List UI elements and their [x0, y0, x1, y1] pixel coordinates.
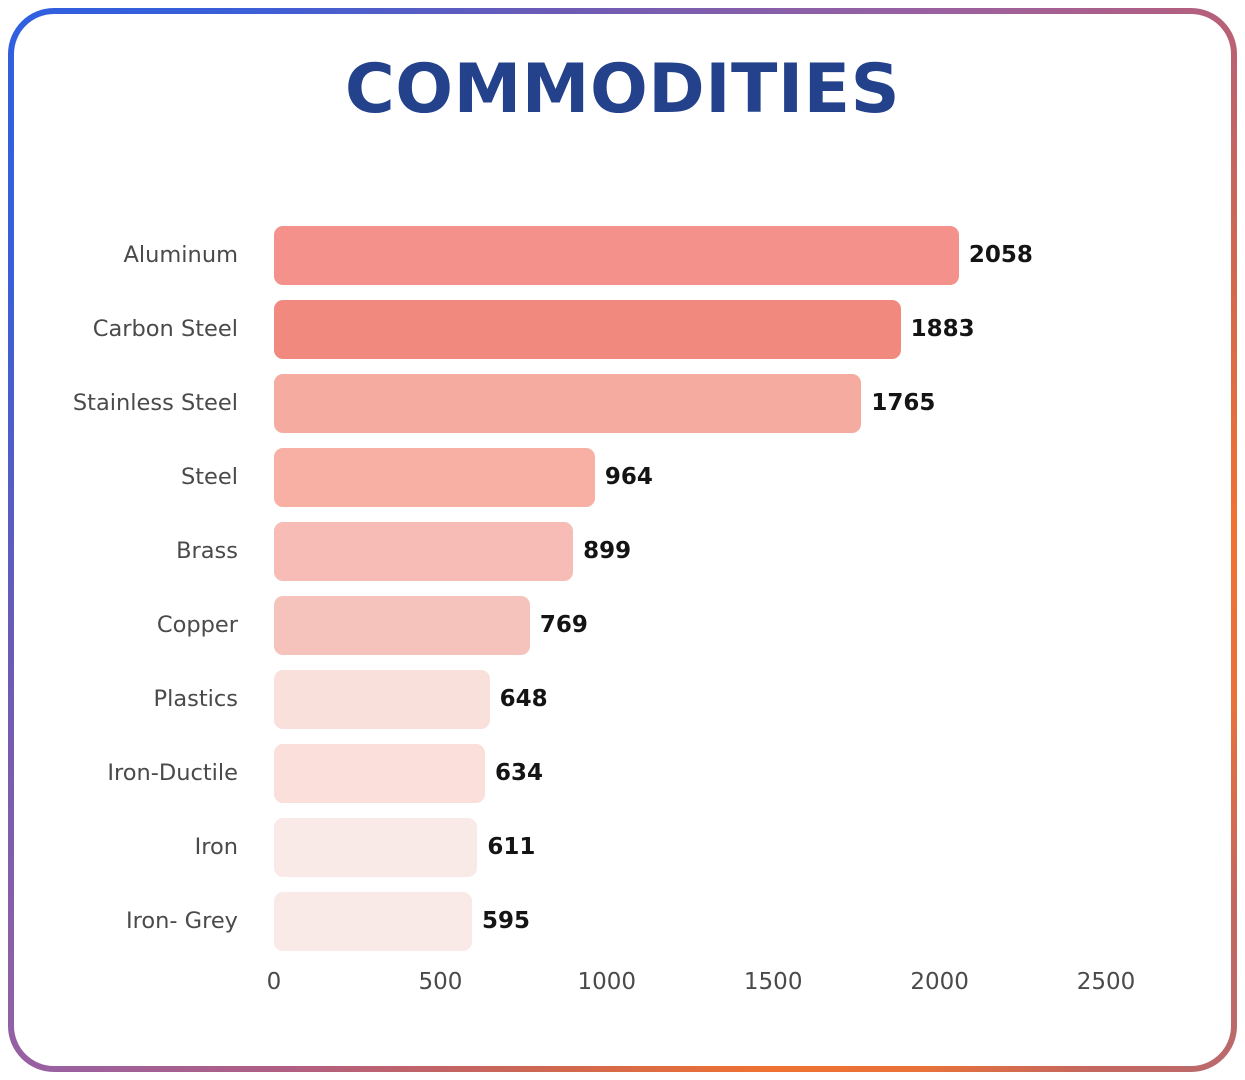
- bar-row: Iron-Ductile634: [14, 744, 1231, 803]
- bar-row: Iron- Grey595: [14, 892, 1231, 951]
- bar-value-label: 899: [583, 522, 631, 581]
- bar-row: Aluminum2058: [14, 226, 1231, 285]
- bar[interactable]: [274, 522, 573, 581]
- x-axis-tick-label: 2000: [910, 969, 969, 995]
- bar[interactable]: [274, 374, 861, 433]
- bar-row: Carbon Steel1883: [14, 300, 1231, 359]
- bar-value-label: 634: [495, 744, 543, 803]
- category-label: Steel: [181, 448, 238, 507]
- chart-card: COMMODITIES Aluminum2058Carbon Steel1883…: [14, 14, 1231, 1066]
- bar-row: Plastics648: [14, 670, 1231, 729]
- bar-value-label: 1883: [911, 300, 975, 359]
- bar-value-label: 1765: [871, 374, 935, 433]
- bar-row: Brass899: [14, 522, 1231, 581]
- gradient-border-frame: COMMODITIES Aluminum2058Carbon Steel1883…: [8, 8, 1237, 1072]
- bar-value-label: 595: [482, 892, 530, 951]
- x-axis-tick-label: 0: [267, 969, 282, 995]
- category-label: Iron- Grey: [126, 892, 238, 951]
- category-label: Iron-Ductile: [107, 744, 238, 803]
- category-label: Carbon Steel: [93, 300, 238, 359]
- bar[interactable]: [274, 744, 485, 803]
- bar-value-label: 769: [540, 596, 588, 655]
- x-axis-tick-label: 1000: [578, 969, 637, 995]
- bar-value-label: 964: [605, 448, 653, 507]
- bar-row: Iron611: [14, 818, 1231, 877]
- x-axis-tick-label: 2500: [1077, 969, 1136, 995]
- category-label: Aluminum: [123, 226, 238, 285]
- bar[interactable]: [274, 226, 959, 285]
- chart-screenshot: COMMODITIES Aluminum2058Carbon Steel1883…: [0, 0, 1245, 1080]
- bar[interactable]: [274, 670, 490, 729]
- bar-chart-plot: Aluminum2058Carbon Steel1883Stainless St…: [14, 14, 1231, 1066]
- bar-value-label: 648: [500, 670, 548, 729]
- category-label: Stainless Steel: [73, 374, 238, 433]
- bar-row: Steel964: [14, 448, 1231, 507]
- bar[interactable]: [274, 300, 901, 359]
- bar[interactable]: [274, 596, 530, 655]
- x-axis: 05001000150020002500: [14, 969, 1231, 1009]
- category-label: Iron: [195, 818, 238, 877]
- x-axis-tick-label: 1500: [744, 969, 803, 995]
- category-label: Plastics: [154, 670, 239, 729]
- category-label: Brass: [176, 522, 238, 581]
- bar-value-label: 611: [487, 818, 535, 877]
- category-label: Copper: [157, 596, 238, 655]
- bar[interactable]: [274, 818, 477, 877]
- bar[interactable]: [274, 448, 595, 507]
- bar-row: Stainless Steel1765: [14, 374, 1231, 433]
- bar-value-label: 2058: [969, 226, 1033, 285]
- bar[interactable]: [274, 892, 472, 951]
- bar-row: Copper769: [14, 596, 1231, 655]
- x-axis-tick-label: 500: [418, 969, 462, 995]
